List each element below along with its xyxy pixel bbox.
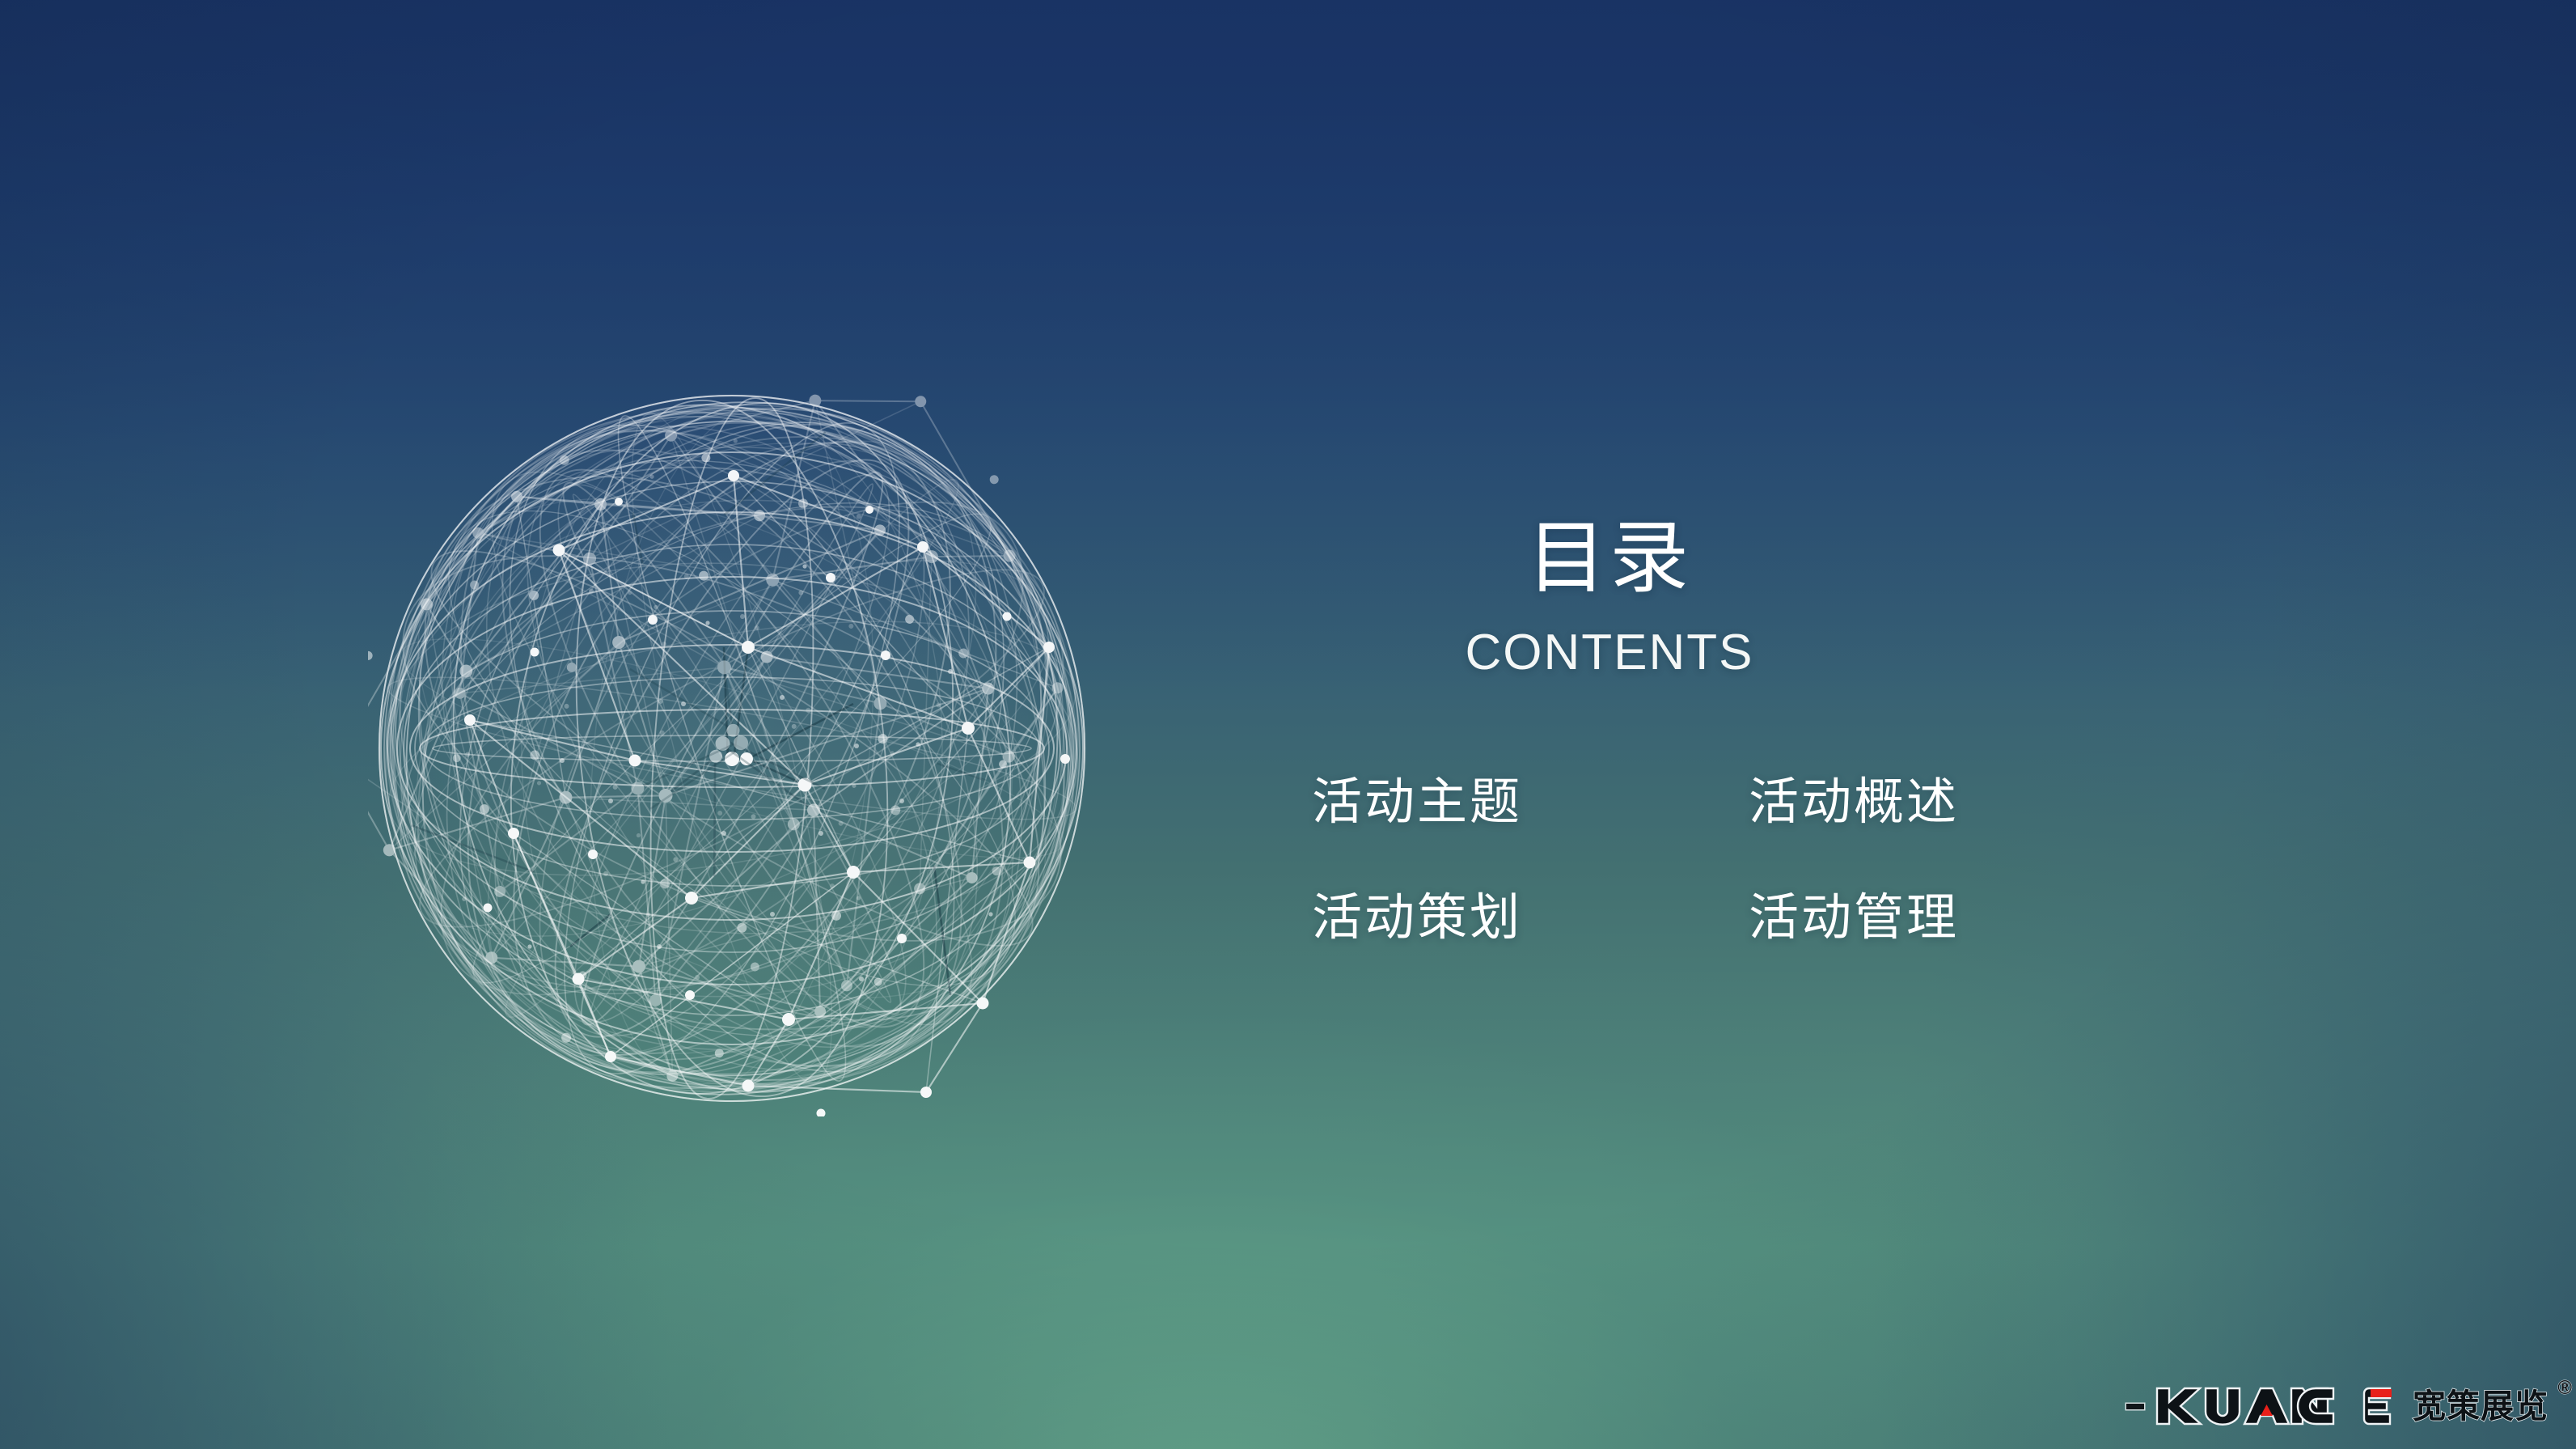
logo-wordmark-cn: 宽策展览 ® xyxy=(2413,1390,2549,1423)
page-title-zh: 目录 xyxy=(1262,518,1957,597)
logo-dash-icon xyxy=(2126,1404,2144,1409)
menu-item-1[interactable]: 活动主题 xyxy=(1312,773,1749,831)
network-globe-svg xyxy=(368,380,1096,1116)
contents-menu-grid: 活动主题 活动概述 活动策划 活动管理 xyxy=(1312,773,2185,947)
menu-item-4[interactable]: 活动管理 xyxy=(1749,889,2185,947)
logo-bar-accent xyxy=(2371,1389,2392,1397)
network-globe-graphic xyxy=(368,380,1096,1116)
menu-item-3[interactable]: 活动策划 xyxy=(1312,889,1749,947)
brand-logo: 宽策展览 ® xyxy=(2126,1381,2549,1431)
menu-item-2[interactable]: 活动概述 xyxy=(1749,773,2185,831)
registered-mark-icon: ® xyxy=(2557,1379,2573,1398)
logo-wordmark-kuance xyxy=(2154,1385,2396,1427)
contents-block: 目录 CONTENTS 活动主题 活动概述 活动策划 活动管理 xyxy=(1262,518,2119,947)
logo-cn-text: 宽策展览 xyxy=(2413,1388,2549,1425)
slide-canvas: 目录 CONTENTS 活动主题 活动概述 活动策划 活动管理 xyxy=(0,0,2576,1449)
page-title-en: CONTENTS xyxy=(1262,628,1957,678)
